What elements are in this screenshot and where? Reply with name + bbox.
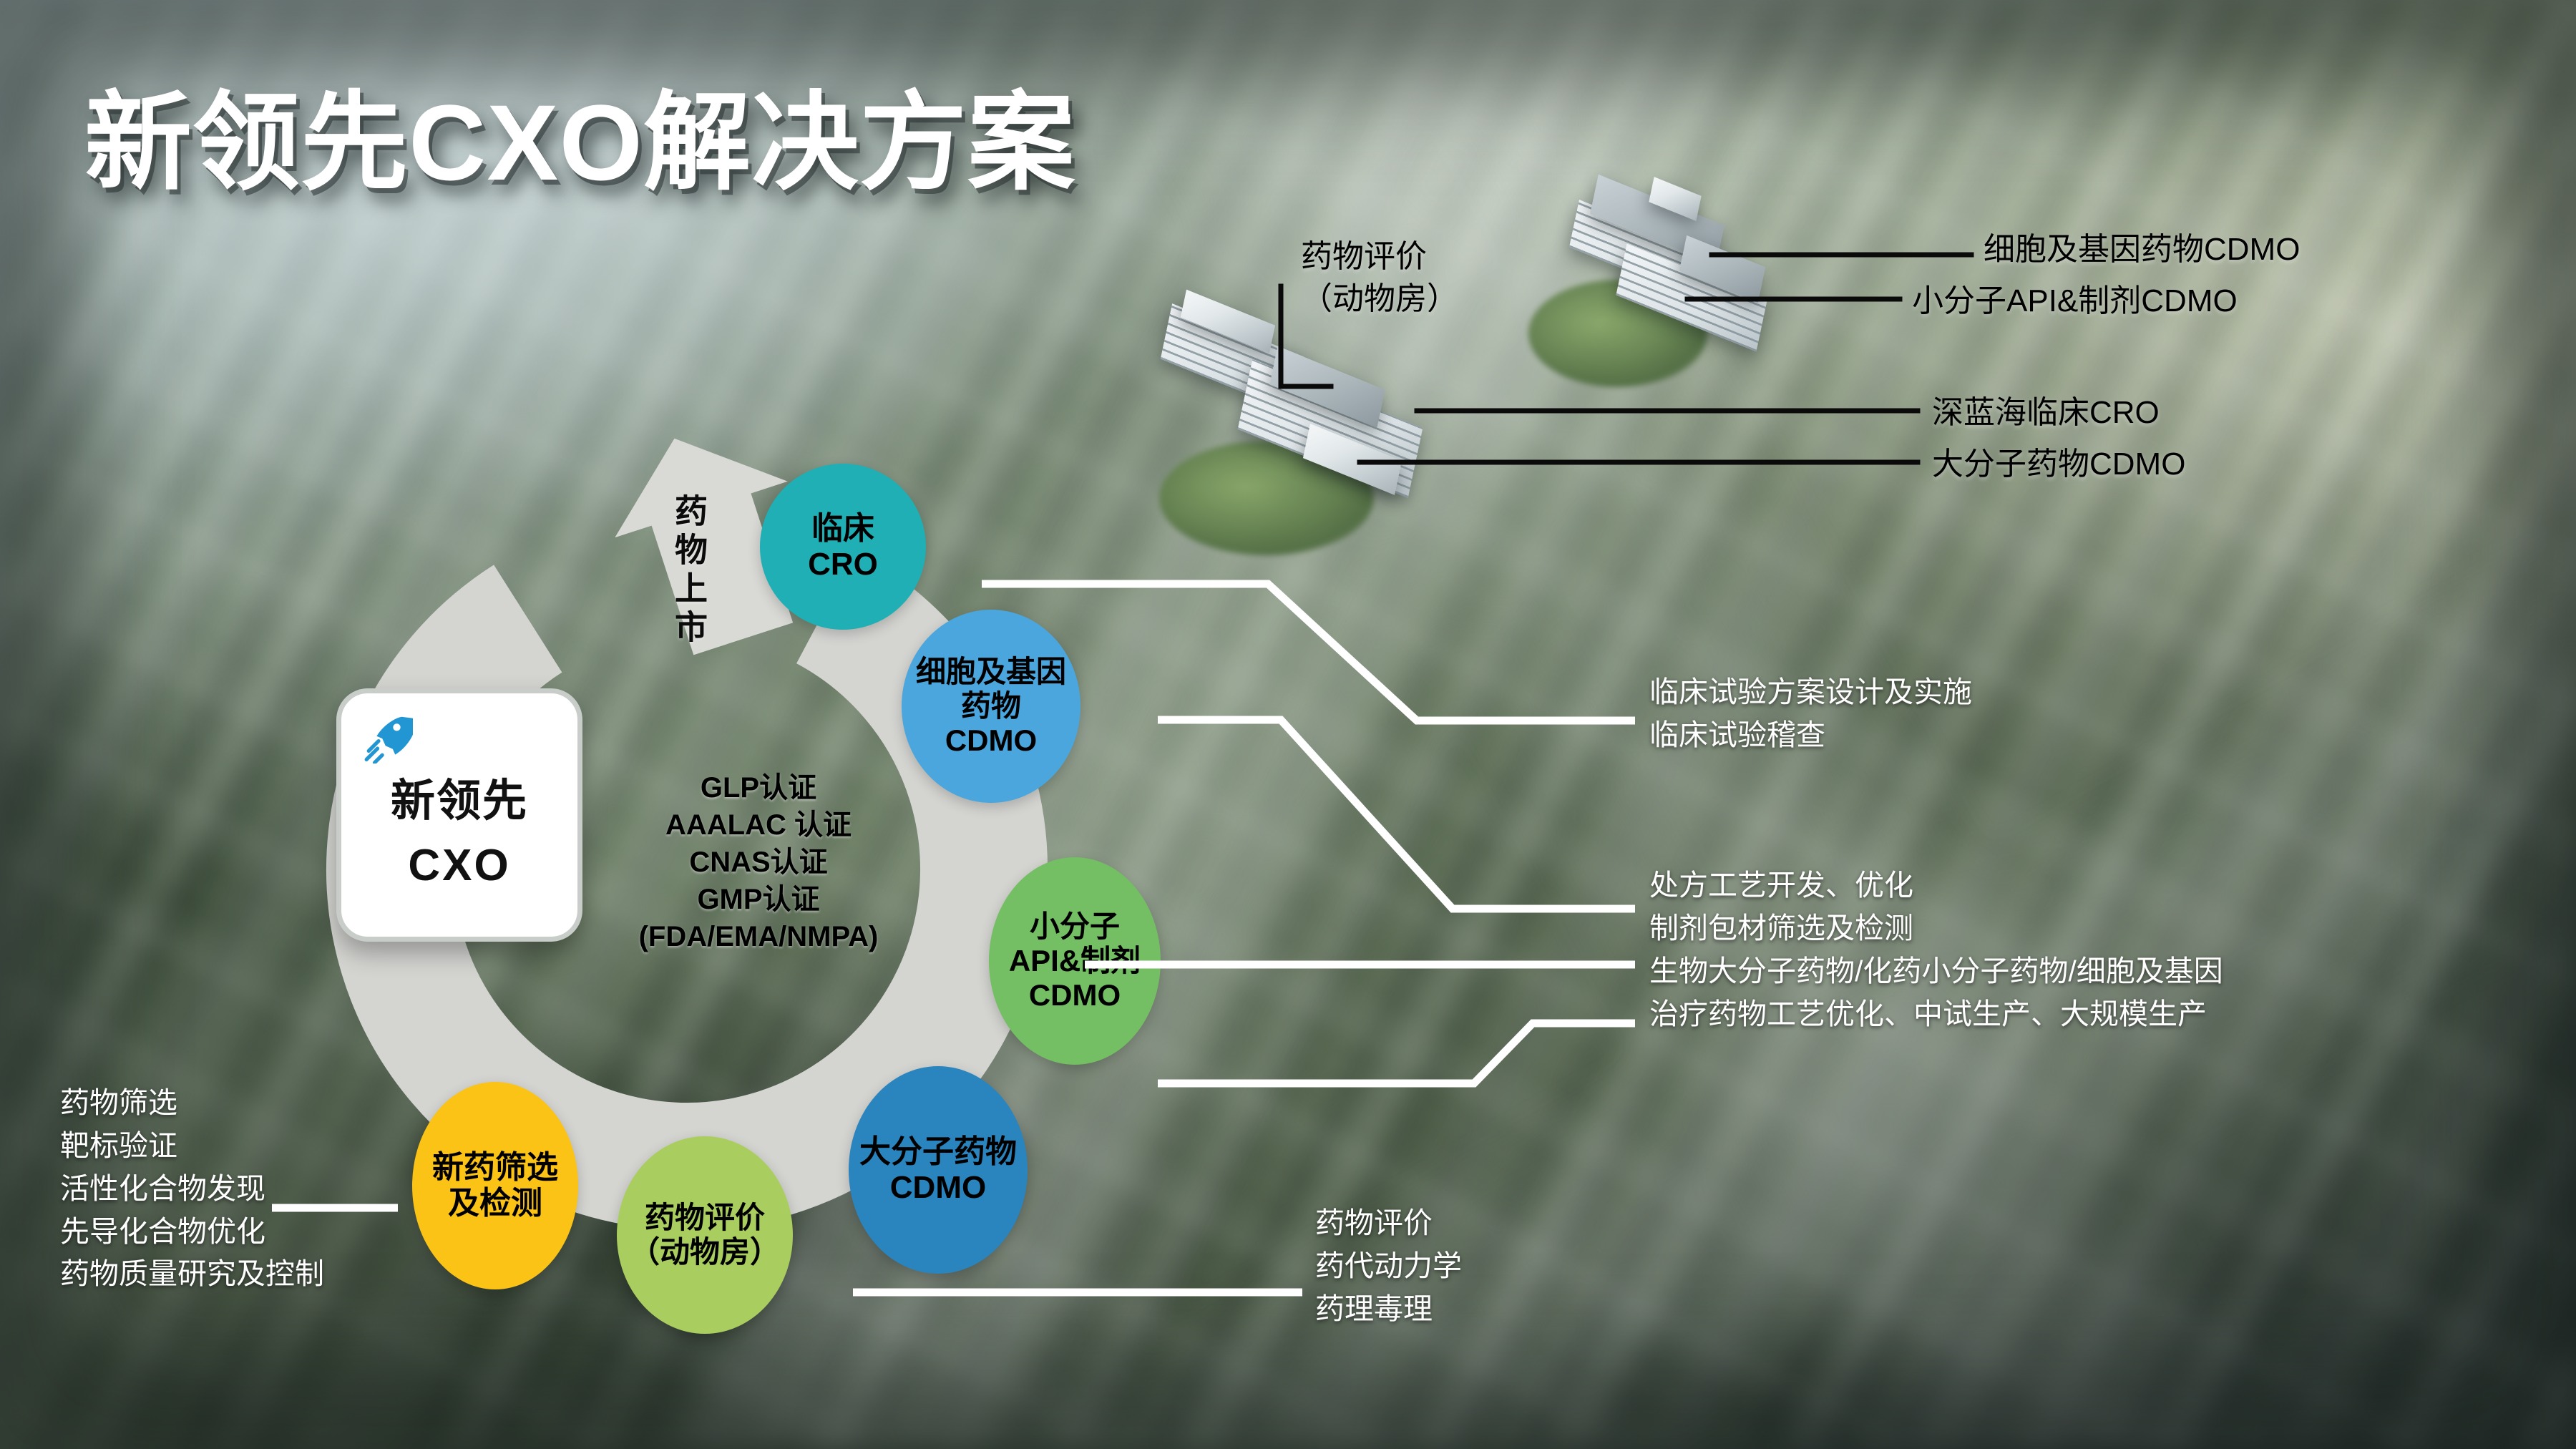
cxo-card-line-2: CXO xyxy=(408,840,510,891)
node-clinical-cro-line-2: CRO xyxy=(804,547,882,582)
discovery-line-4: 先导化合物优化 xyxy=(60,1211,324,1254)
node-large-molecule-line-2: CDMO xyxy=(855,1170,1021,1206)
node-clinical-cro[interactable]: 临床 CRO xyxy=(760,464,926,630)
node-cell-gene-cdmo[interactable]: 细胞及基因 药物 CDMO xyxy=(902,610,1080,803)
discovery-line-3: 活性化合物发现 xyxy=(60,1168,324,1211)
node-drug-screening[interactable]: 新药筛选 及检测 xyxy=(412,1082,578,1289)
node-large-molecule-cdmo[interactable]: 大分子药物 CDMO xyxy=(849,1066,1028,1274)
cert-item-agency: (FDA/EMA/NMPA) xyxy=(587,918,930,955)
node-small-molecule-line-3: CDMO xyxy=(1005,978,1145,1013)
building-callout-animal-house: 药物评价 （动物房） xyxy=(1301,236,1458,321)
infographic-canvas: 新领先CXO解决方案 细胞及基因药物CDMO 小分子API&制剂CDMO 深蓝海… xyxy=(0,0,2576,1449)
node-small-molecule-line-1: 小分子 xyxy=(1005,909,1145,944)
node-small-molecule-cdmo[interactable]: 小分子 API&制剂 CDMO xyxy=(989,857,1161,1065)
building-callout-cell-gene: 细胞及基因药物CDMO xyxy=(1984,228,2300,272)
node-drug-screening-line-1: 新药筛选 xyxy=(428,1150,562,1186)
detail-block-evaluation: 药物评价 药代动力学 药理毒理 xyxy=(1315,1202,1462,1331)
node-large-molecule-line-1: 大分子药物 xyxy=(855,1134,1021,1170)
node-drug-screening-line-2: 及检测 xyxy=(428,1186,562,1221)
discovery-line-1: 药物筛选 xyxy=(60,1082,324,1125)
cert-item-gmp: GMP认证 xyxy=(587,881,930,918)
formulation-line-2: 制剂包材筛选及检测 xyxy=(1649,907,2223,950)
formulation-line-4: 治疗药物工艺优化、中试生产、大规模生产 xyxy=(1649,993,2223,1036)
animal-house-line-1: 药物评价 xyxy=(1301,236,1458,278)
node-cell-gene-line-3: CDMO xyxy=(912,723,1070,758)
cxo-center-card[interactable]: 新领先 CXO xyxy=(336,688,582,942)
cert-item-cnas: CNAS认证 xyxy=(587,844,930,881)
formulation-line-1: 处方工艺开发、优化 xyxy=(1649,864,2223,907)
node-cell-gene-line-2: 药物 xyxy=(912,689,1070,723)
rocket-icon xyxy=(361,712,413,763)
detail-block-clinical: 临床试验方案设计及实施 临床试验稽查 xyxy=(1649,671,1972,757)
evaluation-line-3: 药理毒理 xyxy=(1315,1288,1462,1331)
clinical-line-1: 临床试验方案设计及实施 xyxy=(1649,671,1972,714)
drug-launch-label: 药物上市 xyxy=(665,494,713,648)
clinical-line-2: 临床试验稽查 xyxy=(1649,714,1972,757)
discovery-line-5: 药物质量研究及控制 xyxy=(60,1253,324,1296)
node-cell-gene-line-1: 细胞及基因 xyxy=(912,655,1070,689)
building-callout-clinical-cro: 深蓝海临床CRO xyxy=(1932,391,2160,435)
evaluation-line-2: 药代动力学 xyxy=(1315,1245,1462,1288)
cxo-card-line-1: 新领先 xyxy=(391,764,528,829)
node-drug-evaluation-line-2: （动物房） xyxy=(625,1235,784,1269)
node-drug-evaluation-line-1: 药物评价 xyxy=(625,1201,784,1235)
node-small-molecule-line-2: API&制剂 xyxy=(1005,944,1145,978)
building-callout-small-molecule: 小分子API&制剂CDMO xyxy=(1912,279,2238,323)
discovery-line-2: 靶标验证 xyxy=(60,1125,324,1168)
evaluation-line-1: 药物评价 xyxy=(1315,1202,1462,1245)
building-callout-large-molecule: 大分子药物CDMO xyxy=(1932,442,2185,487)
node-drug-evaluation[interactable]: 药物评价 （动物房） xyxy=(617,1136,793,1334)
node-clinical-cro-line-1: 临床 xyxy=(804,511,882,547)
formulation-line-3: 生物大分子药物/化药小分子药物/细胞及基因 xyxy=(1649,950,2223,993)
detail-block-discovery: 药物筛选 靶标验证 活性化合物发现 先导化合物优化 药物质量研究及控制 xyxy=(60,1082,324,1296)
cert-item-glp: GLP认证 xyxy=(587,769,930,806)
detail-block-formulation: 处方工艺开发、优化 制剂包材筛选及检测 生物大分子药物/化药小分子药物/细胞及基… xyxy=(1649,864,2223,1035)
cert-item-aaalac: AAALAC 认证 xyxy=(587,806,930,844)
animal-house-line-2: （动物房） xyxy=(1301,278,1458,321)
certification-list: GLP认证 AAALAC 认证 CNAS认证 GMP认证 (FDA/EMA/NM… xyxy=(587,769,930,955)
